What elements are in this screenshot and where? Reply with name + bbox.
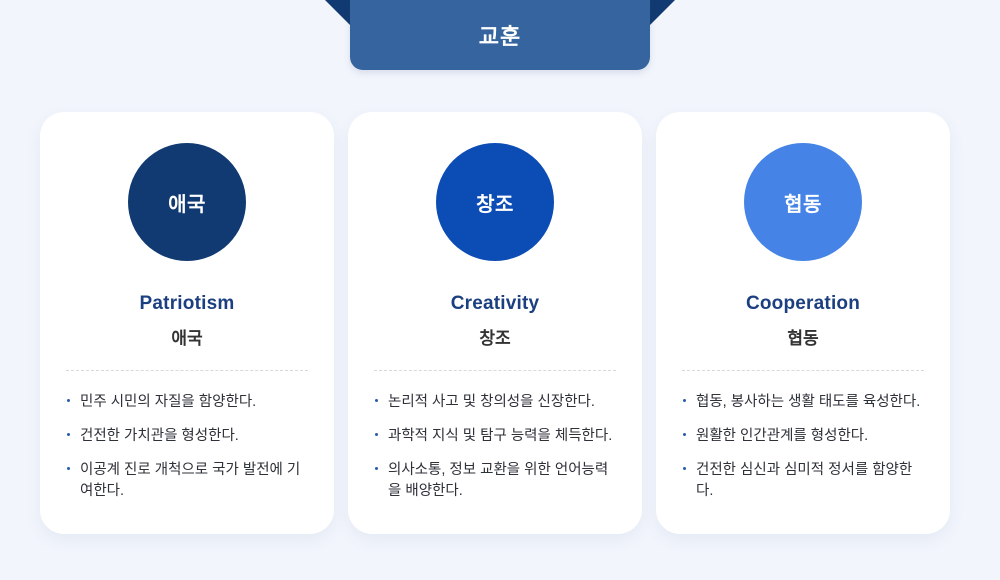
motto-circle-label: 애국 <box>168 188 206 217</box>
bullet-text: 건전한 심신과 심미적 정서를 함양한다. <box>696 462 912 499</box>
card-divider <box>374 370 616 371</box>
bullet-text: 과학적 지식 및 탐구 능력을 체득한다. <box>388 428 612 444</box>
motto-title-ko: 애국 <box>171 324 202 349</box>
list-item: 건전한 가치관을 형성한다. <box>66 426 308 447</box>
bullet-dot-icon <box>67 433 70 436</box>
page-title: 교훈 <box>479 19 521 51</box>
motto-title-en: Patriotism <box>140 293 235 315</box>
motto-title-en: Cooperation <box>746 293 860 315</box>
motto-circle-label: 창조 <box>476 188 514 217</box>
list-item: 협동, 봉사하는 생활 태도를 육성한다. <box>682 392 924 413</box>
list-item: 의사소통, 정보 교환을 위한 언어능력을 배양한다. <box>374 460 616 502</box>
list-item: 과학적 지식 및 탐구 능력을 체득한다. <box>374 426 616 447</box>
ribbon-banner: 교훈 <box>350 0 650 70</box>
bullet-text: 협동, 봉사하는 생활 태도를 육성한다. <box>696 394 920 410</box>
motto-bullet-list: 민주 시민의 자질을 함양한다. 건전한 가치관을 형성한다. 이공계 진로 개… <box>66 392 308 502</box>
list-item: 민주 시민의 자질을 함양한다. <box>66 392 308 413</box>
list-item: 이공계 진로 개척으로 국가 발전에 기여한다. <box>66 460 308 502</box>
card-divider <box>66 370 308 371</box>
bullet-text: 이공계 진로 개척으로 국가 발전에 기여한다. <box>80 462 300 499</box>
list-item: 원활한 인간관계를 형성한다. <box>682 426 924 447</box>
motto-circle-label: 협동 <box>784 188 822 217</box>
motto-title-ko: 협동 <box>787 324 818 349</box>
motto-card-creativity: 창조 Creativity 창조 논리적 사고 및 창의성을 신장한다. 과학적… <box>348 112 642 534</box>
motto-title-ko: 창조 <box>479 324 510 349</box>
list-item: 논리적 사고 및 창의성을 신장한다. <box>374 392 616 413</box>
bullet-dot-icon <box>683 467 686 470</box>
motto-circle-badge: 협동 <box>744 143 862 261</box>
bullet-text: 건전한 가치관을 형성한다. <box>80 428 239 444</box>
motto-card-patriotism: 애국 Patriotism 애국 민주 시민의 자질을 함양한다. 건전한 가치… <box>40 112 334 534</box>
bullet-dot-icon <box>683 399 686 402</box>
bullet-dot-icon <box>67 467 70 470</box>
bullet-dot-icon <box>375 433 378 436</box>
card-divider <box>682 370 924 371</box>
bullet-text: 원활한 인간관계를 형성한다. <box>696 428 868 444</box>
bullet-dot-icon <box>67 399 70 402</box>
ribbon-tail-right-icon <box>647 0 675 28</box>
bullet-dot-icon <box>375 399 378 402</box>
motto-card-cooperation: 협동 Cooperation 협동 협동, 봉사하는 생활 태도를 육성한다. … <box>656 112 950 534</box>
bullet-dot-icon <box>375 467 378 470</box>
list-item: 건전한 심신과 심미적 정서를 함양한다. <box>682 460 924 502</box>
motto-card-list: 애국 Patriotism 애국 민주 시민의 자질을 함양한다. 건전한 가치… <box>40 112 960 534</box>
ribbon-header: 교훈 <box>0 0 1000 72</box>
bullet-text: 논리적 사고 및 창의성을 신장한다. <box>388 394 595 410</box>
motto-title-en: Creativity <box>451 293 540 315</box>
motto-circle-badge: 창조 <box>436 143 554 261</box>
motto-circle-badge: 애국 <box>128 143 246 261</box>
motto-bullet-list: 협동, 봉사하는 생활 태도를 육성한다. 원활한 인간관계를 형성한다. 건전… <box>682 392 924 502</box>
bullet-dot-icon <box>683 433 686 436</box>
ribbon-tail-left-icon <box>325 0 353 28</box>
bullet-text: 민주 시민의 자질을 함양한다. <box>80 394 256 410</box>
motto-bullet-list: 논리적 사고 및 창의성을 신장한다. 과학적 지식 및 탐구 능력을 체득한다… <box>374 392 616 502</box>
bullet-text: 의사소통, 정보 교환을 위한 언어능력을 배양한다. <box>388 462 608 499</box>
